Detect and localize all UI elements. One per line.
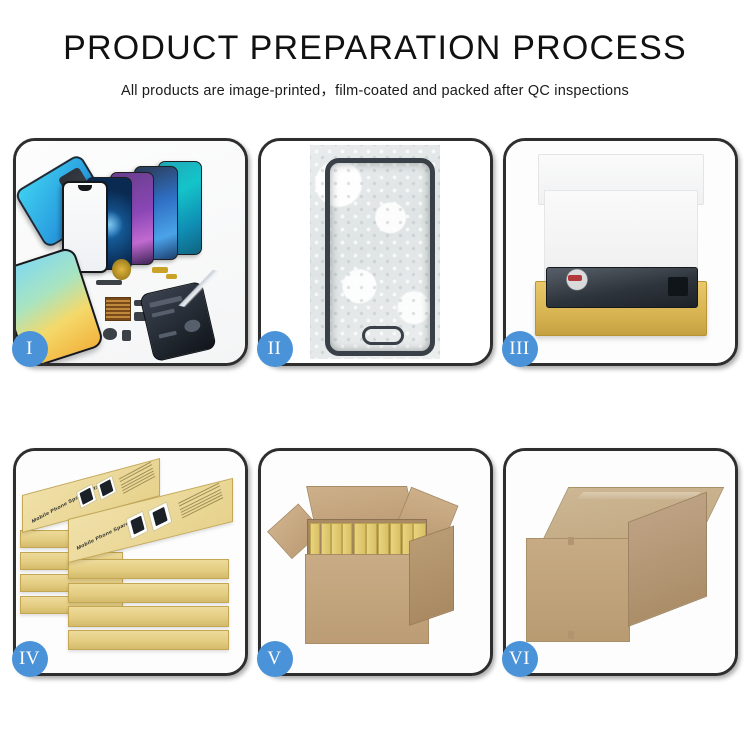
step-image-4: Mobile Phone Spare Parts Mobile (16, 451, 245, 673)
speaker-coil-icon (112, 259, 131, 280)
step-panel-1: I (13, 138, 248, 366)
phone-fan-group (75, 161, 235, 268)
product-preparation-infographic: PRODUCT PREPARATION PROCESS All products… (0, 0, 750, 750)
carton-front-face (526, 538, 629, 643)
box-print-thumbnail (148, 501, 173, 531)
steps-grid: I II III (0, 138, 750, 676)
stacked-box (68, 630, 228, 650)
step-badge-5: V (257, 641, 293, 677)
step-badge-1: I (12, 331, 48, 367)
open-carton-icon (290, 509, 455, 642)
page-title: PRODUCT PREPARATION PROCESS (0, 30, 750, 67)
spare-parts-group (98, 263, 217, 356)
step-panel-2: II (258, 138, 493, 366)
button-icon (103, 328, 117, 339)
carton-side-face (409, 525, 454, 625)
stacked-box (68, 606, 228, 626)
notch-icon (78, 185, 91, 191)
step-badge-2: II (257, 331, 293, 367)
step-image-6 (506, 451, 735, 673)
step-panel-3: III (503, 138, 738, 366)
kraft-tray-icon (535, 281, 706, 336)
step-image-3 (506, 141, 735, 363)
bubble-wrap-icon (310, 145, 441, 358)
ic-array-icon (105, 297, 131, 321)
stacked-box (68, 583, 228, 603)
step-image-1 (16, 141, 245, 363)
step-panel-6: VI (503, 448, 738, 676)
gold-connector-icon (166, 274, 177, 279)
step-badge-6: VI (502, 641, 538, 677)
box-print-thumbnail (125, 510, 148, 540)
connector-icon (668, 277, 687, 296)
page-subtitle: All products are image-printed，film-coat… (0, 79, 750, 100)
packed-screen-icon (546, 267, 697, 308)
step-badge-3: III (502, 331, 538, 367)
sealed-carton-icon (526, 487, 714, 642)
header: PRODUCT PREPARATION PROCESS All products… (0, 0, 750, 100)
box-print-thumbnail (76, 484, 97, 510)
box-print-text-lines (119, 462, 156, 497)
box-print-text-lines (178, 483, 224, 521)
sim-tray-icon (122, 330, 132, 341)
wrapped-screen-icon (325, 158, 434, 356)
step-panel-5: V (258, 448, 493, 676)
flex-cable-icon (96, 280, 122, 286)
box-stack-group: Mobile Phone Spare Parts Mobile (20, 475, 240, 657)
step-badge-4: IV (12, 641, 48, 677)
step-image-5 (261, 451, 490, 673)
step-image-2 (261, 141, 490, 363)
gold-connector-icon (152, 267, 169, 274)
carton-notch-icon (568, 631, 574, 639)
red-marker-icon (568, 275, 581, 281)
tweezers-icon (174, 263, 224, 314)
box-print-thumbnail (96, 475, 117, 501)
packing-tape-icon (578, 491, 702, 498)
step-panel-4: Mobile Phone Spare Parts Mobile (13, 448, 248, 676)
stacked-box (68, 559, 228, 579)
carton-notch-icon (568, 537, 574, 545)
